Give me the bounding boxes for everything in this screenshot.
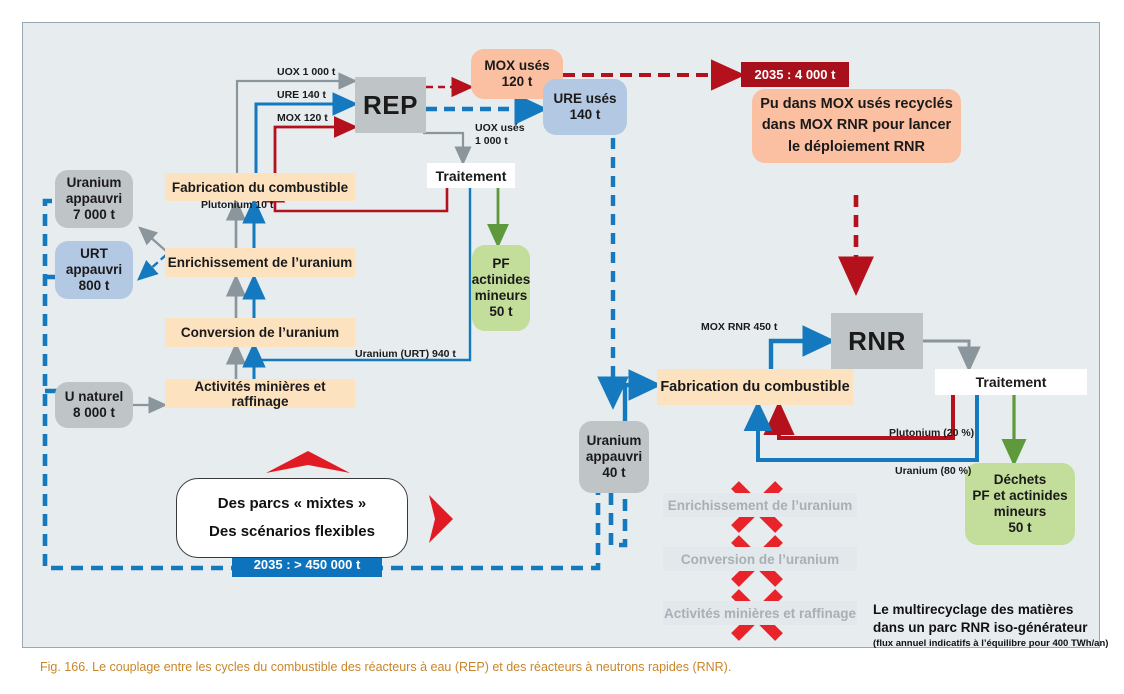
rnr-traitement-box[interactable]: Traitement [935,369,1087,395]
stock-uranium-appauvri-40t[interactable]: Uranium appauvri 40 t [579,421,649,493]
callout-line1: Des parcs « mixtes » [218,490,366,519]
label-uranium-urt: Uranium (URT) 940 t [355,348,456,361]
rnr-suppressed-enrichissement: Enrichissement de l’uranium [663,493,857,517]
edge-fabricationrnr-rnr [771,341,831,369]
rep-enrichissement-box[interactable]: Enrichissement de l’uranium [165,248,355,277]
stock-u-naturel-8000t[interactable]: U naturel 8 000 t [55,382,133,428]
red-chevron-up-icon [266,451,350,473]
edge-enrichissement-uranium-appauvri [140,228,166,251]
rnr-suppressed-conversion: Conversion de l’uranium [663,547,857,571]
flag-pu-mox-2035[interactable]: 2035 : 4 000 t [741,62,849,87]
rnr-fabrication-box[interactable]: Fabrication du combustible [657,369,853,405]
label-plutonium-rep: Plutonium 10 t [201,199,273,212]
label-mox-in: MOX 120 t [277,112,328,125]
rep-minieres-box[interactable]: Activités minières et raffinage [165,379,355,408]
rep-fabrication-box[interactable]: Fabrication du combustible [165,173,355,201]
rnr-suppressed-minieres: Activités minières et raffinage [663,601,857,625]
red-chevron-right-icon [429,495,453,543]
label-uranium-rnr: Uranium (80 %) [895,465,971,478]
edge-rnr-traitement-rnr [923,341,969,369]
stock-uranium-appauvri-7000t[interactable]: Uranium appauvri 7 000 t [55,170,133,228]
rnr-reactor-box[interactable]: RNR [831,313,923,369]
edge-uranium40-fabrication-rnr [625,385,657,421]
label-mox-rnr: MOX RNR 450 t [701,321,777,334]
rnr-note-line2: dans un parc RNR iso-générateur [873,619,1093,637]
diagram-frame: Fabrication du combustible Enrichissemen… [22,22,1100,648]
stock-pf-actinides-mineurs-50t[interactable]: PF actinides mineurs 50 t [472,245,530,331]
callout-mixed-parks: Des parcs « mixtes » Des scénarios flexi… [176,478,408,558]
edge-rep-traitement [423,133,463,163]
edge-enrichissement-urt-appauvri [139,255,166,279]
rep-reactor-box[interactable]: REP [355,77,426,133]
figure-caption: Fig. 166. Le couplage entre les cycles d… [40,660,731,674]
edge-conversion-enrichissement [236,277,254,318]
stock-ure-uses-140t[interactable]: URE usés 140 t [543,79,627,135]
callout-line2: Des scénarios flexibles [209,518,375,547]
highlight-pu-mox-recycle-box[interactable]: Pu dans MOX usés recyclés dans MOX RNR p… [752,89,961,163]
rep-traitement-box[interactable]: Traitement [427,163,515,188]
label-uox-uses: UOX usés 1 000 t [475,122,525,148]
label-plutonium-rnr: Plutonium (20 %) [889,427,974,440]
rnr-note-line1: Le multirecyclage des matières [873,601,1093,619]
rnr-note-line3: (flux annuel indicatifs à l’équilibre po… [873,638,1093,649]
rep-conversion-box[interactable]: Conversion de l’uranium [165,318,355,347]
edge-minieres-conversion [236,345,254,379]
label-ure-in: URE 140 t [277,89,326,102]
stock-urt-appauvri-800t[interactable]: URT appauvri 800 t [55,241,133,299]
stock-dechets-pf-actinides-50t[interactable]: Déchets PF et actinides mineurs 50 t [965,463,1075,545]
label-uox-in: UOX 1 000 t [277,66,335,79]
rnr-note: Le multirecyclage des matières dans un p… [873,601,1093,649]
